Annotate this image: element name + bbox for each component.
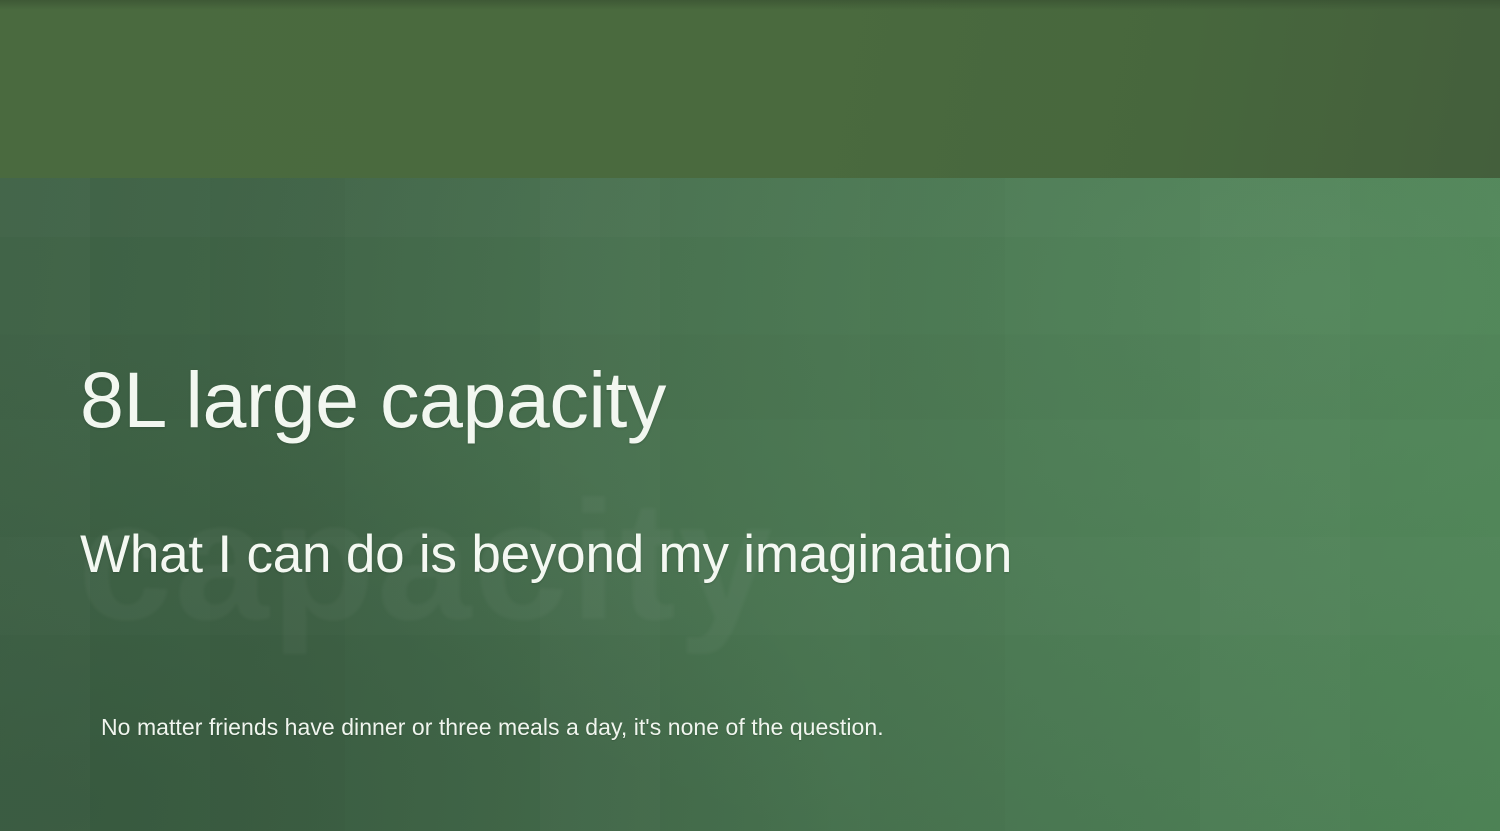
body-text: No matter friends have dinner or three m… [101, 712, 884, 743]
headline: 8L large capacity [80, 360, 666, 441]
subheadline: What I can do is beyond my imagination [80, 527, 1012, 582]
top-color-band [0, 0, 1500, 178]
product-banner-slide: capacity 8L large capacity What I can do… [0, 0, 1500, 831]
